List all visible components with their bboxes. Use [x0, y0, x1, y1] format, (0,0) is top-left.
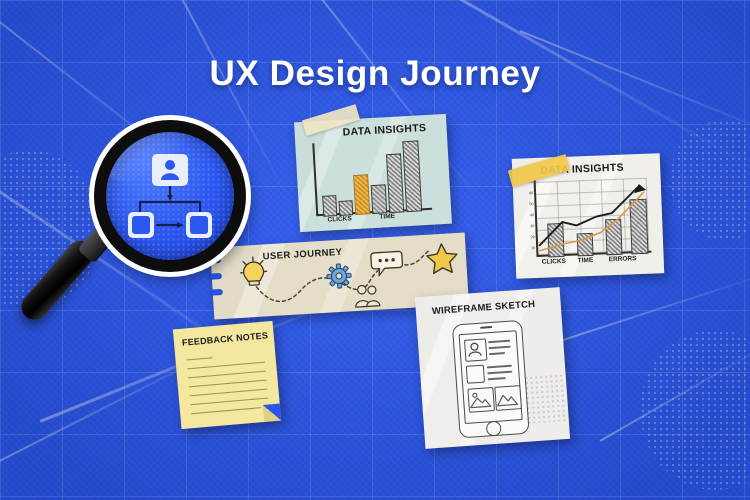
note-title-feedback: FEEDBACK NOTES: [182, 330, 269, 347]
magnifier-lens: [106, 132, 234, 260]
note-rule-line: [188, 371, 266, 379]
chart-xtick-label: TIME: [578, 257, 594, 265]
note-rule-line: [189, 380, 267, 388]
chart-bar: [629, 199, 648, 255]
chart-xtick-label: CLICKS: [542, 258, 566, 266]
gear-icon: [325, 262, 352, 289]
image-placeholder-icon: [494, 385, 519, 409]
people-icon: [352, 281, 383, 309]
star-icon: [424, 241, 460, 277]
chart-xtick-label: ERRORS: [609, 255, 637, 263]
chart-ytick-label: 60: [523, 191, 533, 195]
chart-bar-accent: [353, 174, 370, 215]
note-rule-line: [190, 389, 268, 397]
note-rule-line: [187, 362, 265, 370]
note-rule-line: [191, 407, 261, 414]
page-title: UX Design Journey: [0, 54, 750, 94]
chart-bar: [339, 200, 354, 216]
magnifying-glass[interactable]: [72, 118, 262, 323]
chart-xtick-label: TIME: [379, 213, 395, 221]
note-title-wireframe: WIREFRAME SKETCH: [432, 299, 536, 317]
note-folded-corner: [263, 404, 281, 422]
chart-ytick-label: 10: [525, 246, 535, 250]
chart-bar: [322, 195, 337, 217]
chart-ytick-label: 30: [524, 224, 534, 228]
note-rule-line: [190, 398, 268, 406]
chart-ytick-label: 40: [524, 213, 534, 217]
chart-bar: [386, 153, 404, 213]
chart-bar: [371, 184, 388, 214]
chart-bar: [577, 233, 594, 257]
chart-ytick-label: 50: [523, 202, 533, 206]
image-placeholder-icon: [467, 387, 492, 411]
chart-y-axis: [312, 143, 318, 215]
chart-ytick-label: 20: [525, 235, 535, 239]
chart-xtick-label: CLICKS: [327, 215, 352, 223]
chart-bar: [547, 223, 564, 258]
note-title-data-insights-teal: DATA INSIGHTS: [342, 122, 426, 139]
speech-bubble-icon: [370, 248, 406, 278]
note-feedback[interactable]: FEEDBACK NOTES: [173, 321, 281, 429]
chart-bar: [402, 140, 422, 212]
note-wireframe-sketch[interactable]: WIREFRAME SKETCH: [415, 287, 570, 449]
note-rule-line: [186, 357, 212, 361]
poster-canvas: UX Design Journey DATA INSIGHTS CLICKS T…: [0, 0, 750, 500]
wireframe-square-block: [466, 365, 485, 384]
chart-bar: [605, 219, 622, 256]
avatar-icon: [464, 339, 485, 360]
magnifier-frame: [94, 120, 246, 272]
